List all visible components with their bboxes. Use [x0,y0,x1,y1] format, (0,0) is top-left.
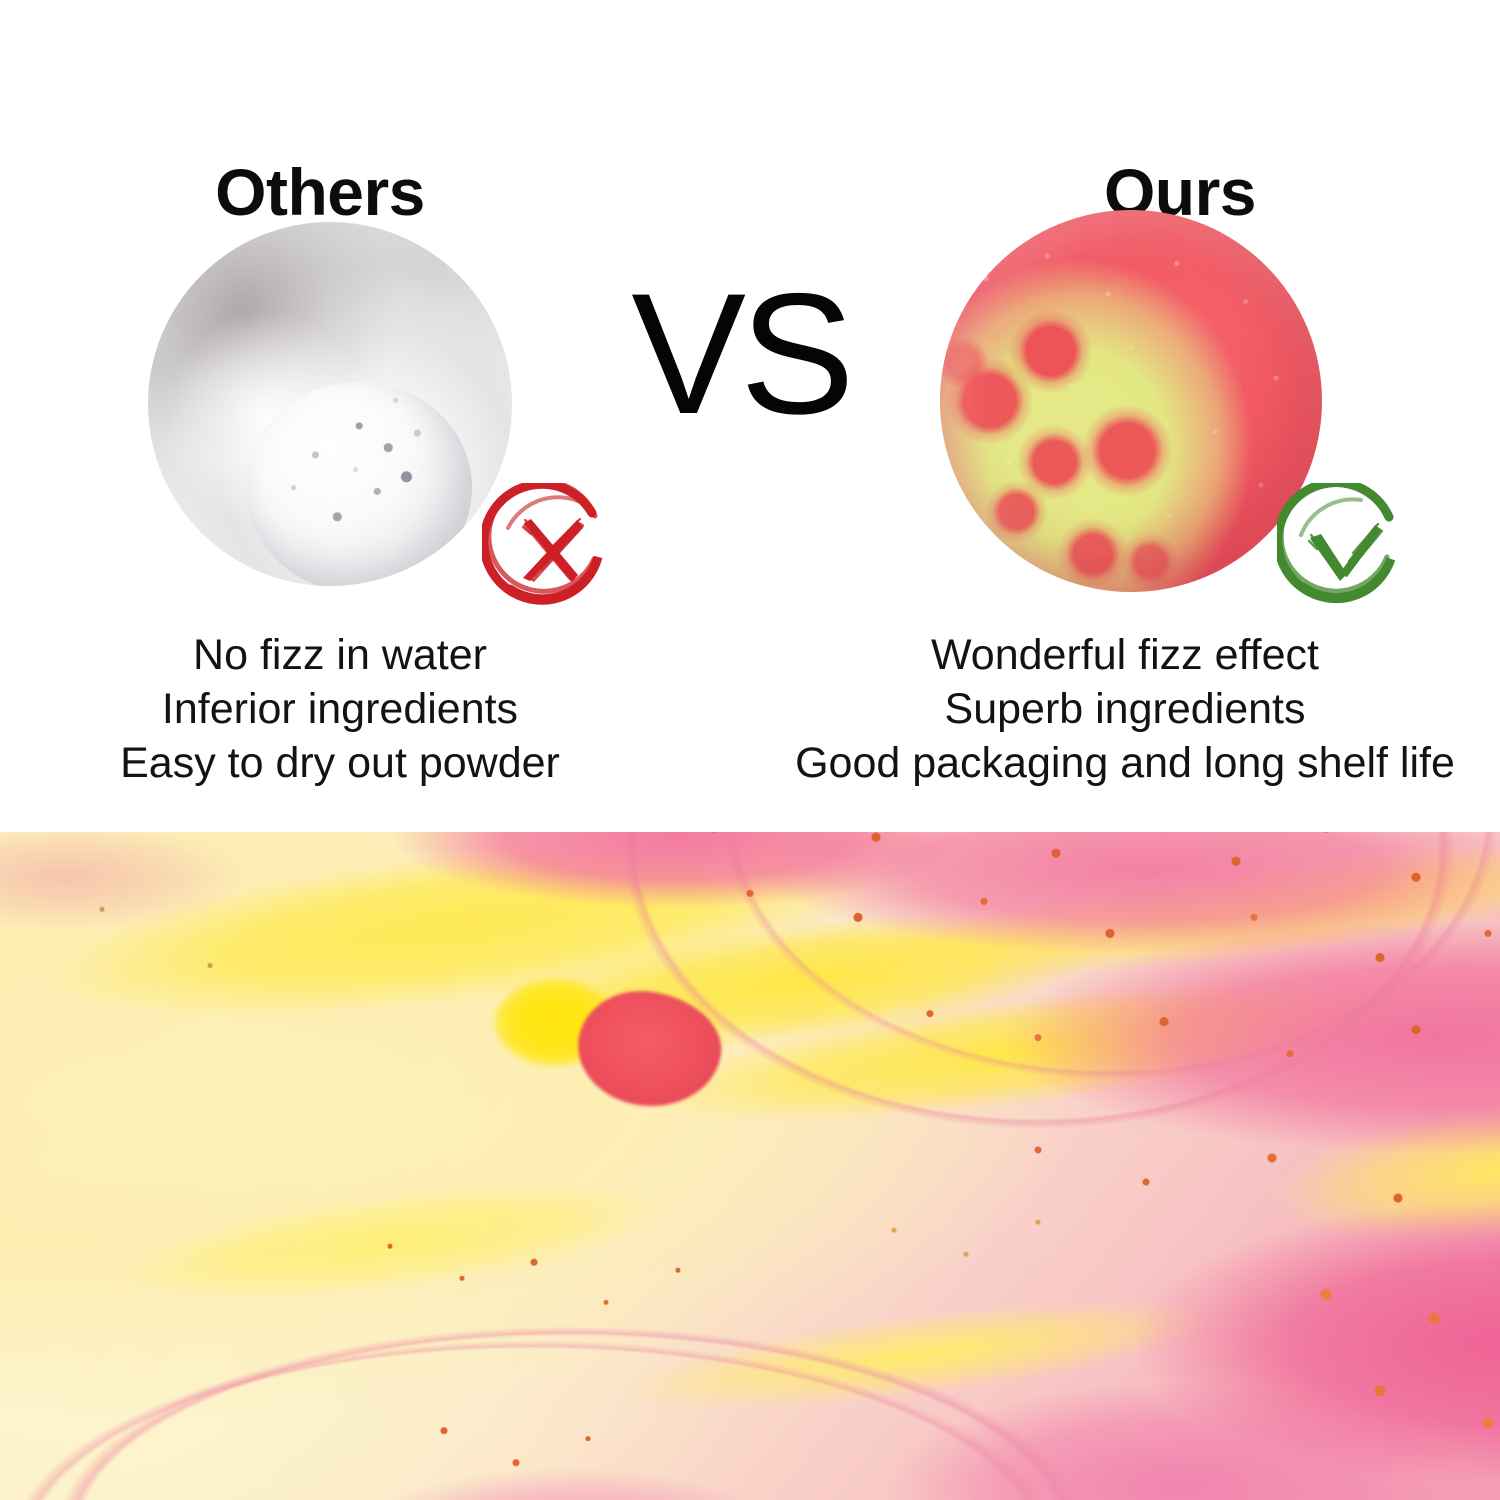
check-icon [1277,483,1413,619]
ours-sphere-shading [940,210,1322,592]
others-speckle-texture [148,222,512,586]
ours-feature-item: Wonderful fizz effect [780,628,1470,682]
cross-icon [482,483,618,619]
ours-product-image [940,210,1322,592]
versus-label: VS [595,268,885,440]
others-feature-list: No fizz in water Inferior ingredients Ea… [20,628,660,790]
others-feature-item: No fizz in water [20,628,660,682]
comparison-panel: Others Ours VS [0,0,1500,832]
fizzing-bath-water-photo [0,832,1500,1500]
others-feature-item: Easy to dry out powder [20,736,660,790]
fizz-sheen [0,832,1500,1500]
others-feature-item: Inferior ingredients [20,682,660,736]
ours-feature-item: Good packaging and long shelf life [780,736,1470,790]
others-product-image [148,222,512,586]
others-column-title: Others [0,159,640,225]
ours-feature-item: Superb ingredients [780,682,1470,736]
ours-feature-list: Wonderful fizz effect Superb ingredients… [780,628,1470,790]
